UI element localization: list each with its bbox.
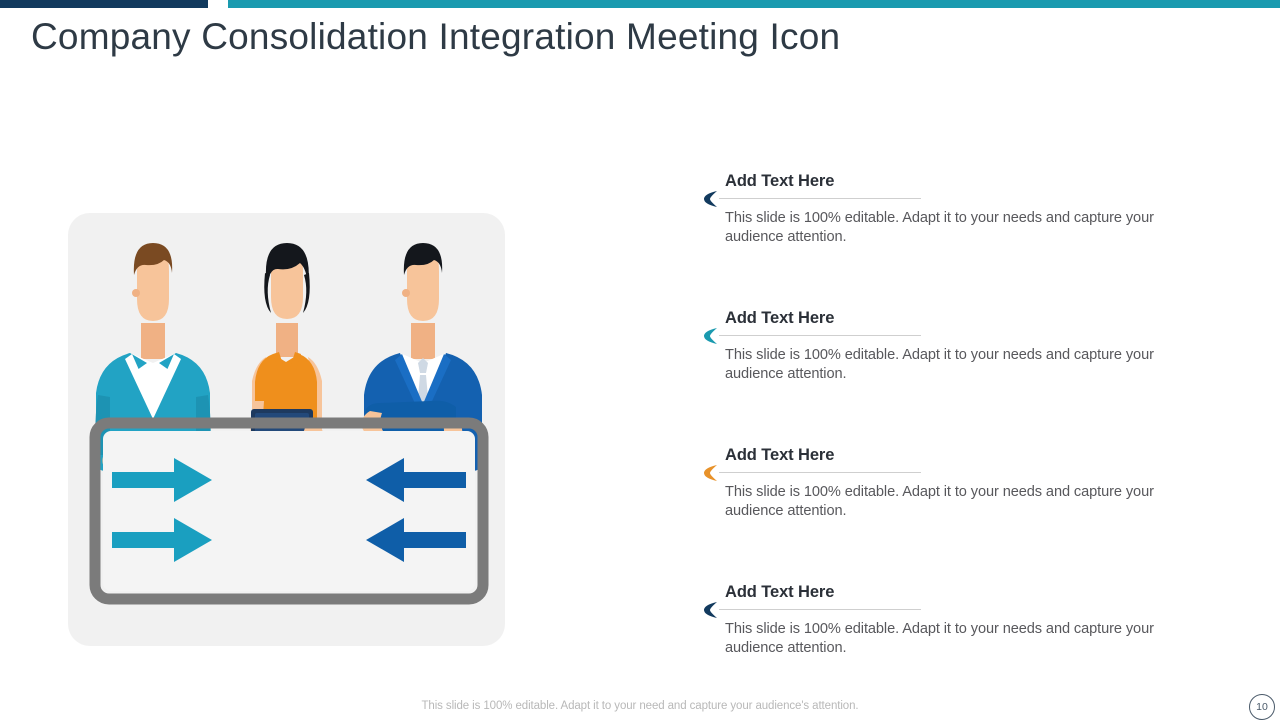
slide-canvas: Company Consolidation Integration Meetin…: [0, 0, 1280, 720]
block-4-body: This slide is 100% editable. Adapt it to…: [725, 620, 1211, 658]
top-accent-bar-navy: [0, 0, 208, 8]
block-3-rule: [719, 472, 921, 473]
crescent-arrow-icon: [700, 190, 720, 208]
arrow-exchange-panel: [95, 423, 483, 599]
block-3-body: This slide is 100% editable. Adapt it to…: [725, 483, 1211, 521]
block-1-rule: [719, 198, 921, 199]
block-2-body: This slide is 100% editable. Adapt it to…: [725, 346, 1211, 384]
business-meeting-illustration: [68, 213, 505, 646]
block-2-rule: [719, 335, 921, 336]
block-3-heading: Add Text Here: [725, 446, 834, 465]
block-1-body: This slide is 100% editable. Adapt it to…: [725, 209, 1211, 247]
crescent-arrow-icon: [700, 464, 720, 482]
page-number-badge: 10: [1249, 694, 1275, 720]
block-4-heading: Add Text Here: [725, 583, 834, 602]
illustration-panel: [68, 213, 505, 646]
footer-note: This slide is 100% editable. Adapt it to…: [0, 700, 1280, 712]
top-accent-bar-teal: [228, 0, 1280, 8]
page-title: Company Consolidation Integration Meetin…: [31, 16, 1131, 58]
block-4-rule: [719, 609, 921, 610]
crescent-arrow-icon: [700, 327, 720, 345]
block-1-heading: Add Text Here: [725, 172, 834, 191]
crescent-arrow-icon: [700, 601, 720, 619]
block-2-heading: Add Text Here: [725, 309, 834, 328]
